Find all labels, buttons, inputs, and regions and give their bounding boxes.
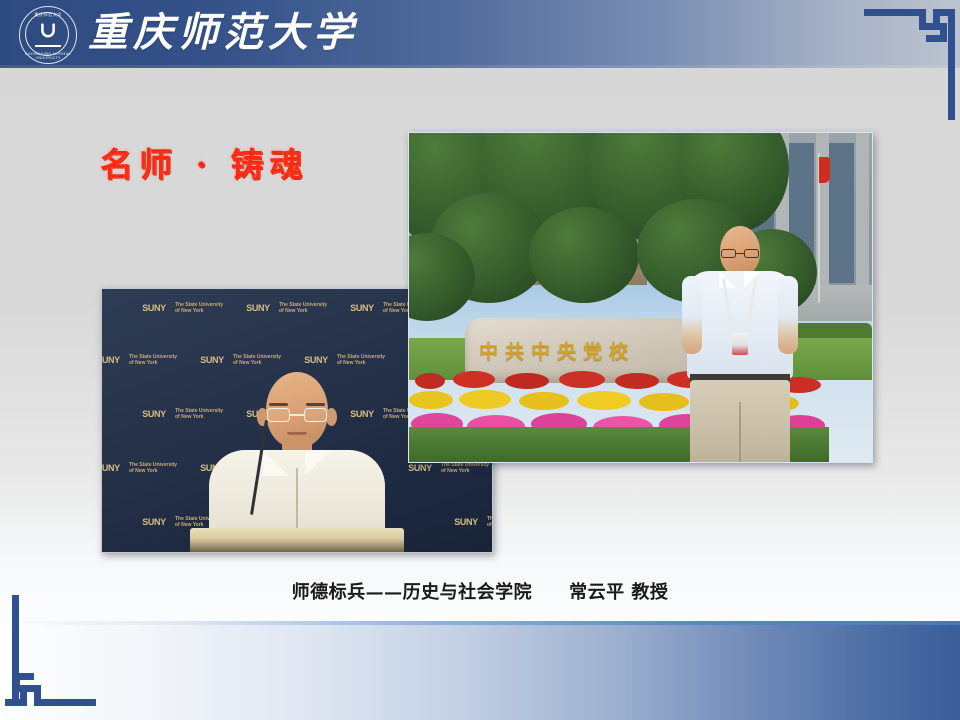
speaker-glasses	[267, 408, 327, 423]
corner-ornament-bottom-left	[0, 595, 100, 720]
speaker-brow-left	[269, 403, 288, 406]
shirt-collar-left	[263, 450, 289, 476]
slide-canvas: 重庆师范大学 ∪ CHONGQING NORMAL UNIVERSITY 重庆师…	[0, 0, 960, 720]
professor-lens-left	[721, 249, 736, 258]
bottom-gradient-band	[0, 625, 960, 720]
professor-trousers	[690, 380, 790, 463]
professor-lens-right	[744, 249, 759, 258]
speaker-brow-right	[306, 403, 325, 406]
photo-caption: 师德标兵——历史与社会学院 常云平 教授	[0, 580, 960, 606]
professor-arm-right	[778, 276, 798, 354]
suny-wordmark: SUNY	[138, 295, 170, 322]
suny-sub-line2: of New York	[175, 308, 203, 314]
glasses-lens-left	[267, 408, 290, 422]
podium	[190, 528, 404, 552]
speaker-mouth	[287, 432, 307, 435]
professor-glasses-bridge	[736, 253, 744, 254]
stone-inscription-text: 中共中央党校	[479, 340, 635, 364]
page-title: 名师 · 铸魂	[100, 143, 308, 187]
glasses-lens-right	[304, 408, 327, 422]
professor-figure	[681, 226, 799, 463]
professor-arm-left	[682, 276, 702, 354]
trouser-inseam	[739, 402, 741, 463]
university-seal-icon: 重庆师范大学 ∪ CHONGQING NORMAL UNIVERSITY	[19, 6, 77, 64]
corner-ornament-top-right	[860, 0, 960, 120]
speaker-figure	[202, 372, 392, 552]
shirt-collar-right	[305, 450, 331, 476]
glasses-bridge	[290, 414, 304, 416]
china-flag-icon	[819, 157, 830, 183]
seal-rim-bottom-text: CHONGQING NORMAL UNIVERSITY	[20, 52, 76, 60]
photo-central-party-school[interactable]: 中共中央党校	[408, 132, 873, 463]
id-badge	[732, 333, 748, 355]
seal-emblem-glyph: ∪	[20, 15, 76, 45]
speaker-ear-right	[326, 408, 337, 426]
university-name: 重庆师范大学	[88, 7, 358, 59]
header-band: 重庆师范大学 ∪ CHONGQING NORMAL UNIVERSITY 重庆师…	[0, 0, 960, 68]
professor-glasses	[721, 249, 759, 259]
